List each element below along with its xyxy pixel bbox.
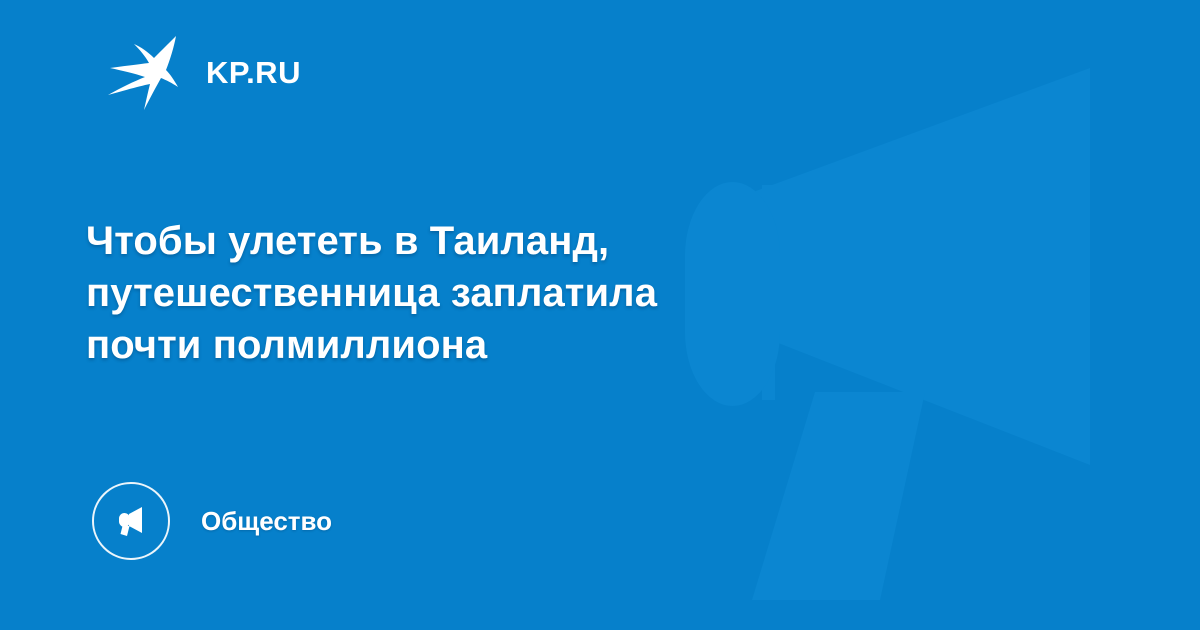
share-card: KP.RU Чтобы улететь в Таиланд, путешеств…: [0, 0, 1200, 630]
category-label: Общество: [201, 508, 332, 534]
headline-line-3: почти полмиллиона: [86, 319, 966, 371]
page-title: Чтобы улететь в Таиланд, путешественница…: [86, 215, 966, 371]
category-icon-circle: [92, 482, 170, 560]
category-badge[interactable]: Общество: [92, 482, 332, 560]
brand-logo[interactable]: KP.RU: [104, 34, 301, 110]
headline-line-1: Чтобы улететь в Таиланд,: [86, 215, 966, 267]
headline-line-2: путешественница заплатила: [86, 267, 966, 319]
megaphone-icon: [110, 500, 152, 542]
swallow-bird-icon: [104, 34, 182, 110]
brand-name: KP.RU: [206, 57, 301, 88]
